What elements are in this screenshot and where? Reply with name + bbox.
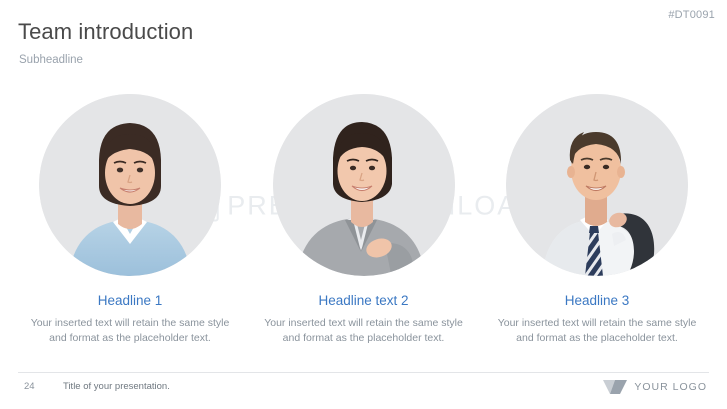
footer-divider xyxy=(18,372,709,373)
team-member-body-3: Your inserted text will retain the same … xyxy=(491,316,703,346)
page-number: 24 xyxy=(24,381,35,392)
logo-placeholder: YOUR LOGO xyxy=(602,377,707,397)
team-member-photo-1 xyxy=(39,94,221,276)
document-code: #DT0091 xyxy=(668,9,715,21)
team-member-headline-1: Headline 1 xyxy=(98,293,163,308)
logo-text: YOUR LOGO xyxy=(634,381,707,393)
logo-mark-icon xyxy=(602,377,628,397)
team-member-headline-3: Headline 3 xyxy=(565,293,630,308)
team-member-headline-2: Headline text 2 xyxy=(318,293,408,308)
woman-in-grey-suit-illustration xyxy=(273,94,455,276)
man-with-tie-and-jacket-illustration xyxy=(506,94,688,276)
slide: #DT0091 Team introduction Subheadline PR… xyxy=(0,0,727,409)
page-title: Team introduction xyxy=(18,19,193,45)
team-member-photo-2 xyxy=(273,94,455,276)
team-columns: Headline 1 Your inserted text will retai… xyxy=(0,94,727,346)
team-member-body-1: Your inserted text will retain the same … xyxy=(24,316,236,346)
footer-presentation-title: Title of your presentation. xyxy=(63,381,170,392)
team-member-2: Headline text 2 Your inserted text will … xyxy=(254,94,474,346)
woman-in-light-blue-shirt-illustration xyxy=(39,94,221,276)
team-member-3: Headline 3 Your inserted text will retai… xyxy=(487,94,707,346)
team-member-1: Headline 1 Your inserted text will retai… xyxy=(20,94,240,346)
team-member-photo-3 xyxy=(506,94,688,276)
team-member-body-2: Your inserted text will retain the same … xyxy=(258,316,470,346)
page-subheadline: Subheadline xyxy=(19,54,83,66)
